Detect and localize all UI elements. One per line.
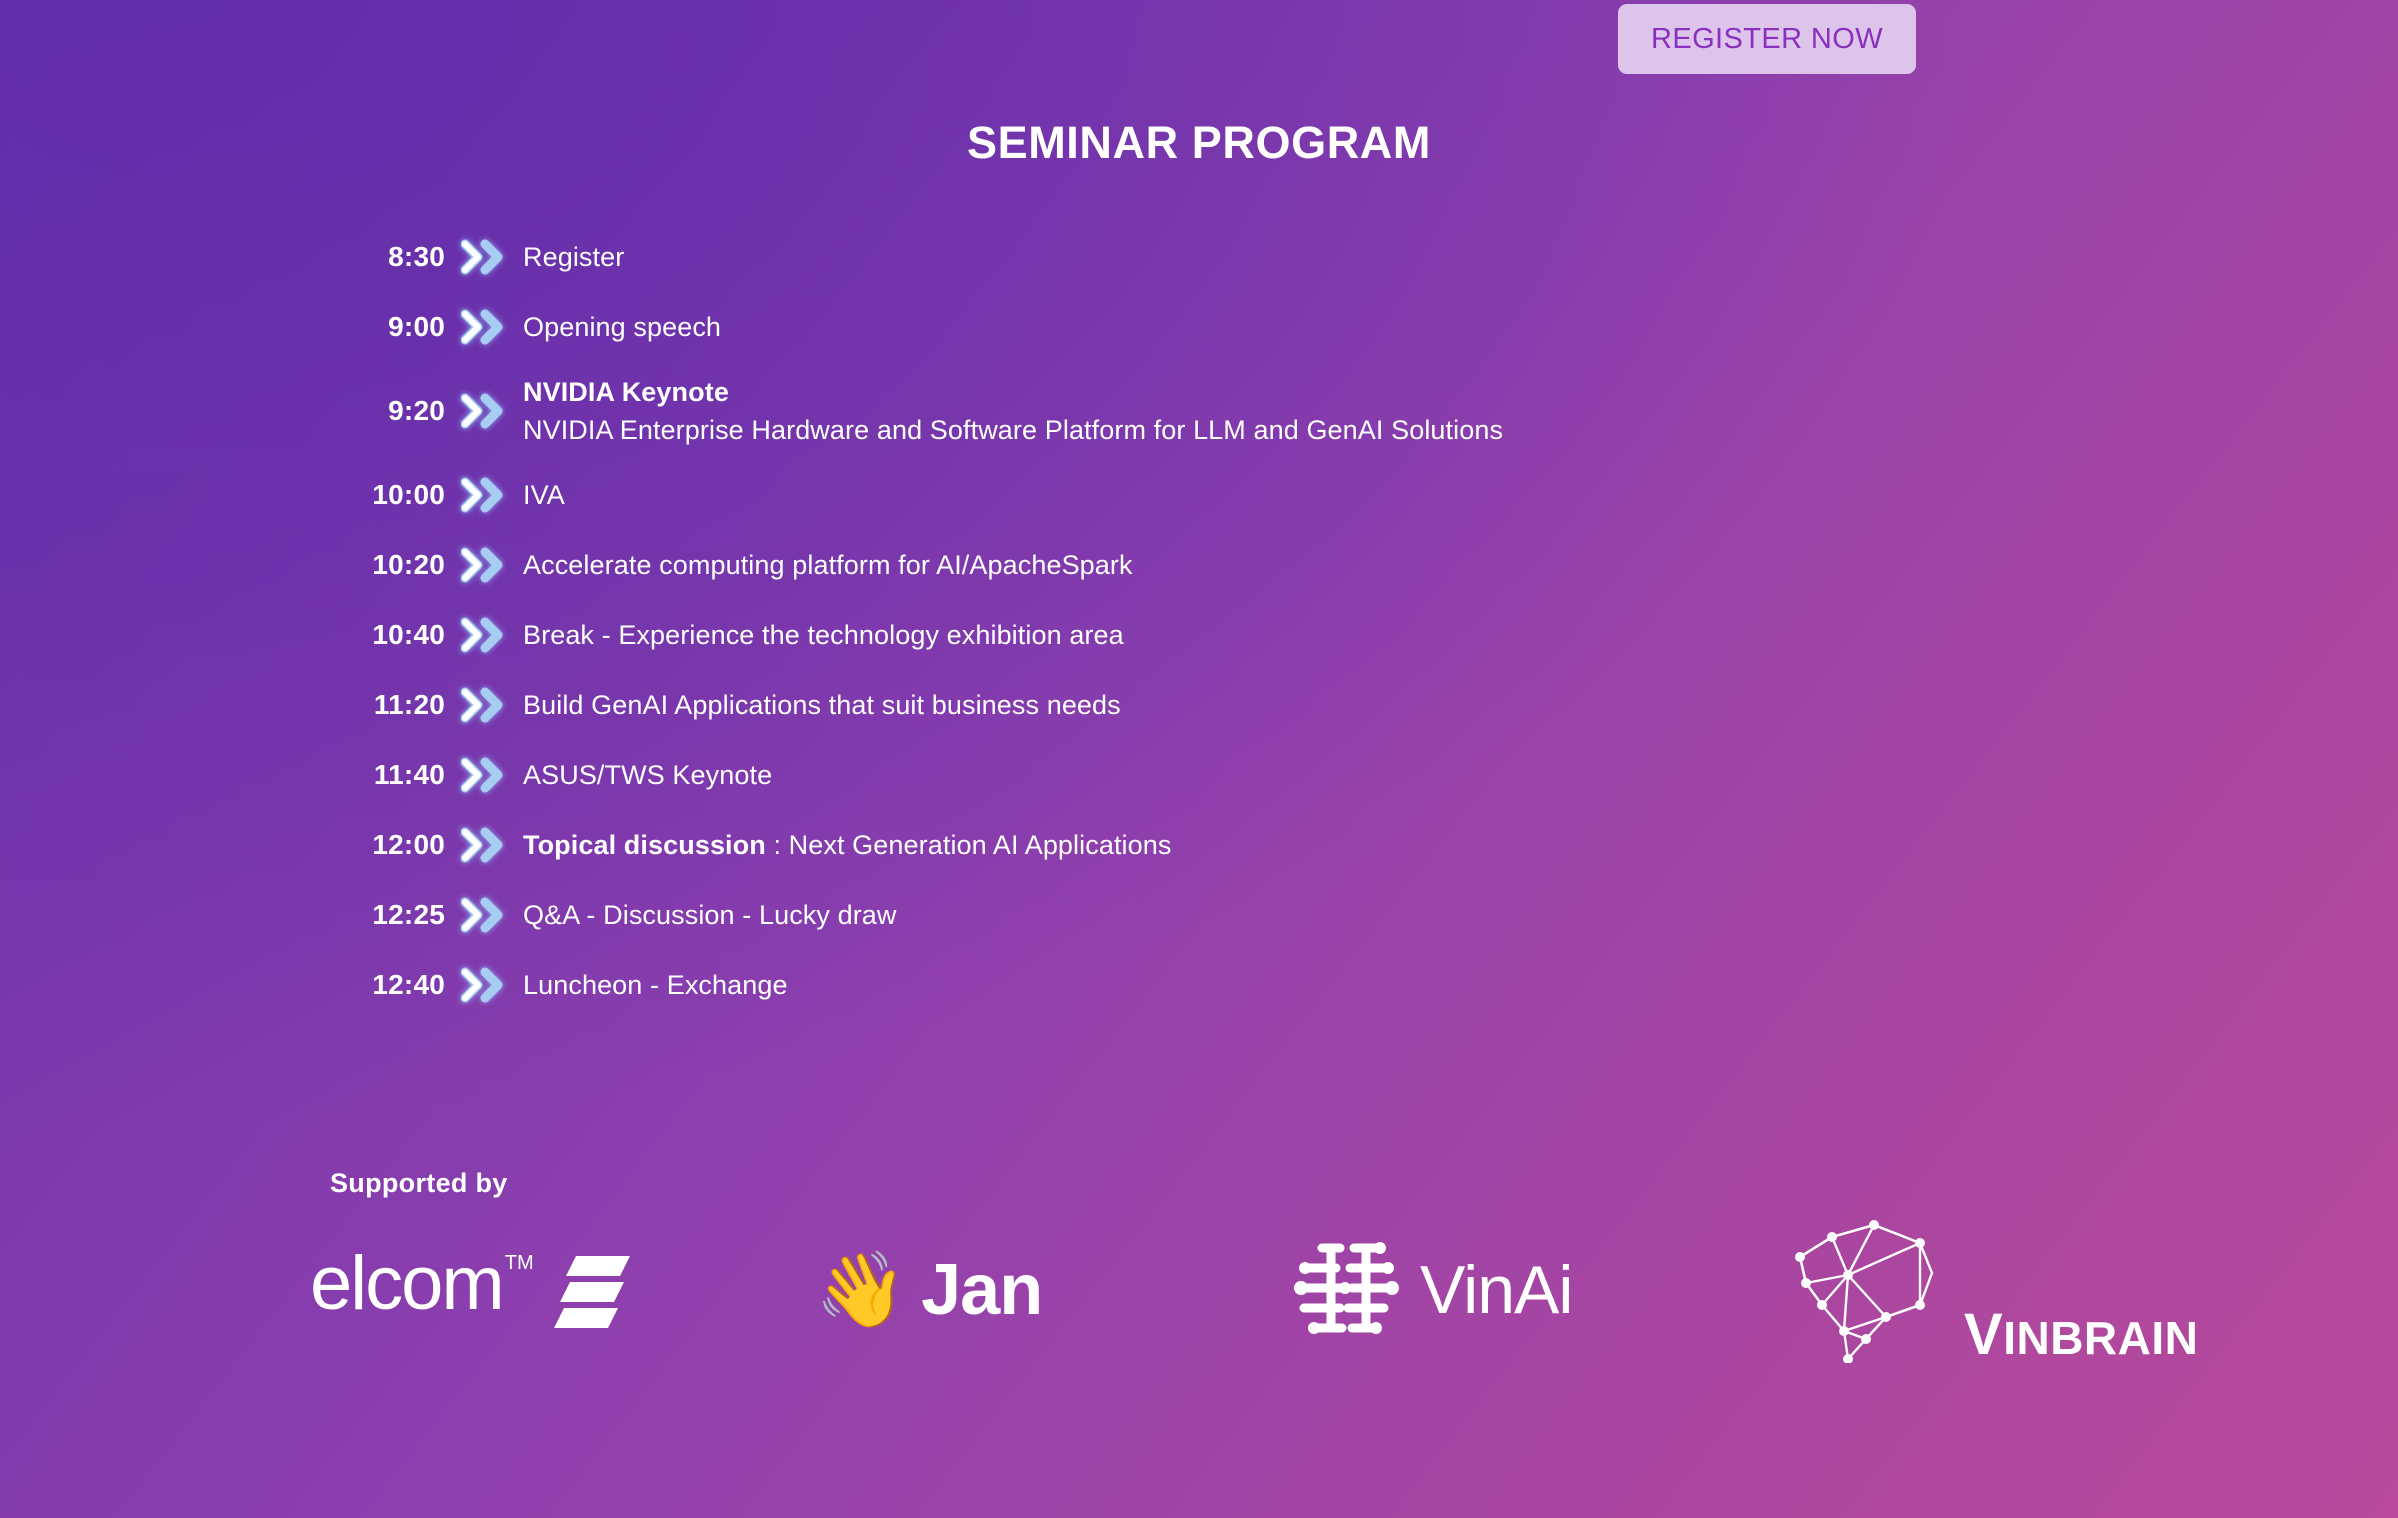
double-chevron-right-icon <box>445 615 523 655</box>
schedule-text: Build GenAI Applications that suit busin… <box>523 690 1121 720</box>
schedule-description: ASUS/TWS Keynote <box>523 756 772 794</box>
schedule-text: : Next Generation AI Applications <box>766 830 1172 860</box>
vinbrain-initial: V <box>1964 1302 2003 1367</box>
supported-by-label: Supported by <box>330 1168 508 1199</box>
schedule-text: Q&A - Discussion - Lucky draw <box>523 900 897 930</box>
page-title: SEMINAR PROGRAM <box>0 117 2398 169</box>
schedule-description: NVIDIA Keynote NVIDIA Enterprise Hardwar… <box>523 373 1503 450</box>
schedule-row: 11:20 Build GenAI Applications that suit… <box>330 670 2230 740</box>
schedule-text: Opening speech <box>523 312 721 342</box>
double-chevron-right-icon <box>445 755 523 795</box>
schedule-row: 9:00 Opening speech <box>330 292 2230 362</box>
elcom-wordmark: elcom <box>310 1246 503 1322</box>
schedule-time: 11:20 <box>330 689 445 721</box>
schedule-title: Topical discussion <box>523 830 766 860</box>
schedule-description: Build GenAI Applications that suit busin… <box>523 686 1121 724</box>
schedule-description: Register <box>523 238 624 276</box>
sponsor-logo-vinbrain: VINBRAIN <box>1750 1213 2220 1368</box>
sponsor-logo-elcom: elcom TM <box>310 1246 790 1335</box>
double-chevron-right-icon <box>445 391 523 431</box>
schedule-row: 11:40 ASUS/TWS Keynote <box>330 740 2230 810</box>
schedule-text: IVA <box>523 480 565 510</box>
vinbrain-rest: INBRAIN <box>2003 1312 2198 1364</box>
schedule-time: 10:20 <box>330 549 445 581</box>
double-chevron-right-icon <box>445 475 523 515</box>
sponsor-logos: elcom TM 👋 Jan <box>310 1215 2320 1365</box>
double-chevron-right-icon <box>445 237 523 277</box>
schedule-time: 10:40 <box>330 619 445 651</box>
schedule-text: NVIDIA Enterprise Hardware and Software … <box>523 411 1503 449</box>
double-chevron-right-icon <box>445 825 523 865</box>
vinbrain-wordmark: VINBRAIN <box>1964 1306 2198 1364</box>
schedule-row: 12:40 Luncheon - Exchange <box>330 950 2230 1020</box>
schedule-description: Q&A - Discussion - Lucky draw <box>523 896 897 934</box>
schedule-text: Break - Experience the technology exhibi… <box>523 620 1124 650</box>
trademark-icon: TM <box>505 1252 534 1275</box>
sponsor-logo-jan: 👋 Jan <box>790 1253 1270 1327</box>
brain-network-icon <box>1770 1213 1990 1368</box>
schedule-row: 12:00 Topical discussion : Next Generati… <box>330 810 2230 880</box>
schedule-time: 10:00 <box>330 479 445 511</box>
schedule-text: Accelerate computing platform for AI/Apa… <box>523 550 1133 580</box>
schedule-row: 10:40 Break - Experience the technology … <box>330 600 2230 670</box>
double-chevron-right-icon <box>445 685 523 725</box>
schedule-description: IVA <box>523 476 565 514</box>
schedule-row: 9:20 NVIDIA Keynote NVIDIA Enterprise Ha… <box>330 362 2230 460</box>
jan-wordmark: Jan <box>921 1254 1042 1326</box>
schedule-description: Topical discussion : Next Generation AI … <box>523 826 1172 864</box>
sponsor-logo-vinai: VinAi <box>1270 1234 1750 1347</box>
schedule-time: 8:30 <box>330 241 445 273</box>
schedule-description: Opening speech <box>523 308 721 346</box>
double-chevron-right-icon <box>445 545 523 585</box>
vinai-circuit-mark-icon <box>1288 1234 1404 1347</box>
double-chevron-right-icon <box>445 895 523 935</box>
schedule-text: Register <box>523 242 624 272</box>
schedule-row: 10:00 IVA <box>330 460 2230 530</box>
schedule-time: 9:00 <box>330 311 445 343</box>
schedule-row: 8:30 Register <box>330 222 2230 292</box>
schedule-text: Luncheon - Exchange <box>523 970 788 1000</box>
schedule-description: Luncheon - Exchange <box>523 966 788 1004</box>
seminar-schedule-list: 8:30 Register 9:00 Opening speech 9:20 <box>330 222 2230 1020</box>
double-chevron-right-icon <box>445 965 523 1005</box>
schedule-description: Break - Experience the technology exhibi… <box>523 616 1124 654</box>
schedule-time: 9:20 <box>330 395 445 427</box>
schedule-time: 11:40 <box>330 759 445 791</box>
vinai-wordmark: VinAi <box>1420 1256 1573 1324</box>
schedule-time: 12:25 <box>330 899 445 931</box>
schedule-title: NVIDIA Keynote <box>523 377 729 407</box>
waving-hand-icon: 👋 <box>815 1253 907 1327</box>
register-now-button[interactable]: REGISTER NOW <box>1618 4 1916 74</box>
schedule-text: ASUS/TWS Keynote <box>523 760 772 790</box>
schedule-row: 10:20 Accelerate computing platform for … <box>330 530 2230 600</box>
elcom-e-mark-icon <box>550 1254 632 1335</box>
schedule-description: Accelerate computing platform for AI/Apa… <box>523 546 1133 584</box>
schedule-time: 12:40 <box>330 969 445 1001</box>
schedule-time: 12:00 <box>330 829 445 861</box>
schedule-row: 12:25 Q&A - Discussion - Lucky draw <box>330 880 2230 950</box>
double-chevron-right-icon <box>445 307 523 347</box>
